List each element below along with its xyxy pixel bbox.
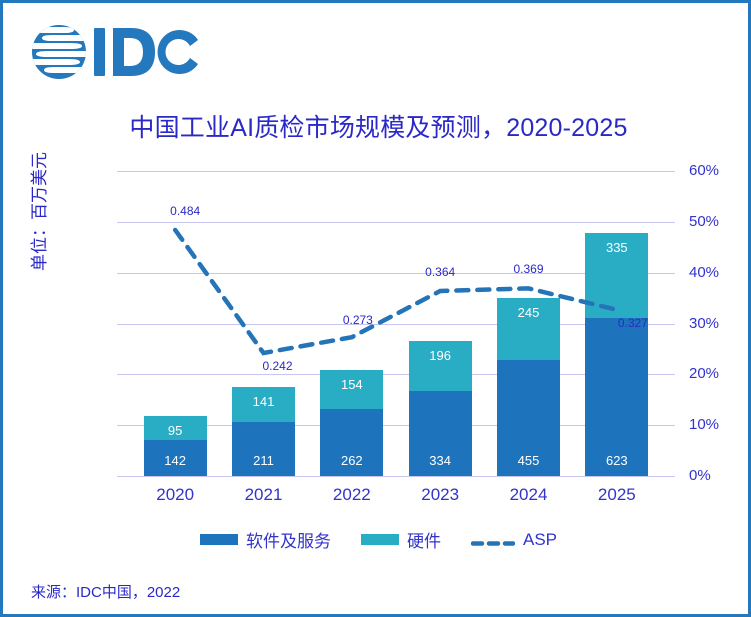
asp-value-label: 0.242 xyxy=(262,359,292,373)
legend-label: 硬件 xyxy=(407,527,441,552)
bar-value-label: 334 xyxy=(409,453,472,468)
asp-value-label: 0.484 xyxy=(170,204,200,218)
bar-value-label: 141 xyxy=(232,394,295,409)
bar-value-label: 154 xyxy=(320,377,383,392)
bar-segment-software[interactable]: 623 xyxy=(585,318,648,476)
legend-label: 软件及服务 xyxy=(246,527,331,552)
legend-item-hardware[interactable]: 硬件 xyxy=(361,527,441,552)
bar-segment-hardware[interactable]: 335 xyxy=(585,233,648,318)
bar-segment-software[interactable]: 211 xyxy=(232,422,295,476)
legend-label: ASP xyxy=(523,530,557,550)
x-tick-label: 2021 xyxy=(224,485,304,505)
plot-area: 1200 1000 800 600 400 200 0 60% 50% 40% … xyxy=(131,171,661,476)
legend-swatch-icon xyxy=(200,534,238,545)
bar-value-label: 455 xyxy=(497,453,560,468)
y-tick-right: 10% xyxy=(689,416,749,433)
y-tick-right: 20% xyxy=(689,365,749,382)
chart-legend: 软件及服务 硬件 ASP xyxy=(3,527,751,552)
x-tick-label: 2024 xyxy=(489,485,569,505)
y-tick-right: 40% xyxy=(689,264,749,281)
y-tick-right: 60% xyxy=(689,162,749,179)
bar-segment-software[interactable]: 262 xyxy=(320,409,383,476)
legend-item-software[interactable]: 软件及服务 xyxy=(200,527,331,552)
chart-page: 中国工业AI质检市场规模及预测，2020-2025 单位：百万美元 1200 1… xyxy=(0,0,751,617)
x-tick-label: 2022 xyxy=(312,485,392,505)
asp-value-label: 0.369 xyxy=(513,262,543,276)
x-tick-label: 2025 xyxy=(577,485,657,505)
bar-segment-software[interactable]: 455 xyxy=(497,360,560,476)
source-note: 来源：IDC中国，2022 xyxy=(31,581,180,602)
bar-value-label: 623 xyxy=(585,453,648,468)
y-tick-right: 50% xyxy=(689,213,749,230)
bar-segment-hardware[interactable]: 141 xyxy=(232,387,295,423)
bar-segment-hardware[interactable]: 196 xyxy=(409,341,472,391)
y-tick-right: 0% xyxy=(689,467,749,484)
y-tick-right: 30% xyxy=(689,315,749,332)
x-tick-label: 2023 xyxy=(400,485,480,505)
gridline xyxy=(117,476,675,477)
plot-wrapper: 1200 1000 800 600 400 200 0 60% 50% 40% … xyxy=(3,3,751,617)
bar-segment-hardware[interactable]: 154 xyxy=(320,370,383,409)
bar-value-label: 245 xyxy=(497,305,560,320)
legend-swatch-icon xyxy=(361,534,399,545)
bar-segment-software[interactable]: 334 xyxy=(409,391,472,476)
bar-segment-software[interactable]: 142 xyxy=(144,440,207,476)
bar-value-label: 335 xyxy=(585,240,648,255)
bar-value-label: 211 xyxy=(232,453,295,468)
asp-value-label: 0.273 xyxy=(343,313,373,327)
gridline xyxy=(117,222,675,223)
bar-value-label: 196 xyxy=(409,348,472,363)
bar-value-label: 95 xyxy=(144,423,207,438)
bar-segment-hardware[interactable]: 245 xyxy=(497,298,560,360)
bar-value-label: 142 xyxy=(144,453,207,468)
asp-value-label: 0.327 xyxy=(618,316,648,330)
gridline xyxy=(117,171,675,172)
legend-dashed-line-icon xyxy=(471,534,515,545)
legend-item-asp[interactable]: ASP xyxy=(471,530,557,550)
bar-segment-hardware[interactable]: 95 xyxy=(144,416,207,440)
x-tick-label: 2020 xyxy=(135,485,215,505)
asp-value-label: 0.364 xyxy=(425,265,455,279)
bar-value-label: 262 xyxy=(320,453,383,468)
